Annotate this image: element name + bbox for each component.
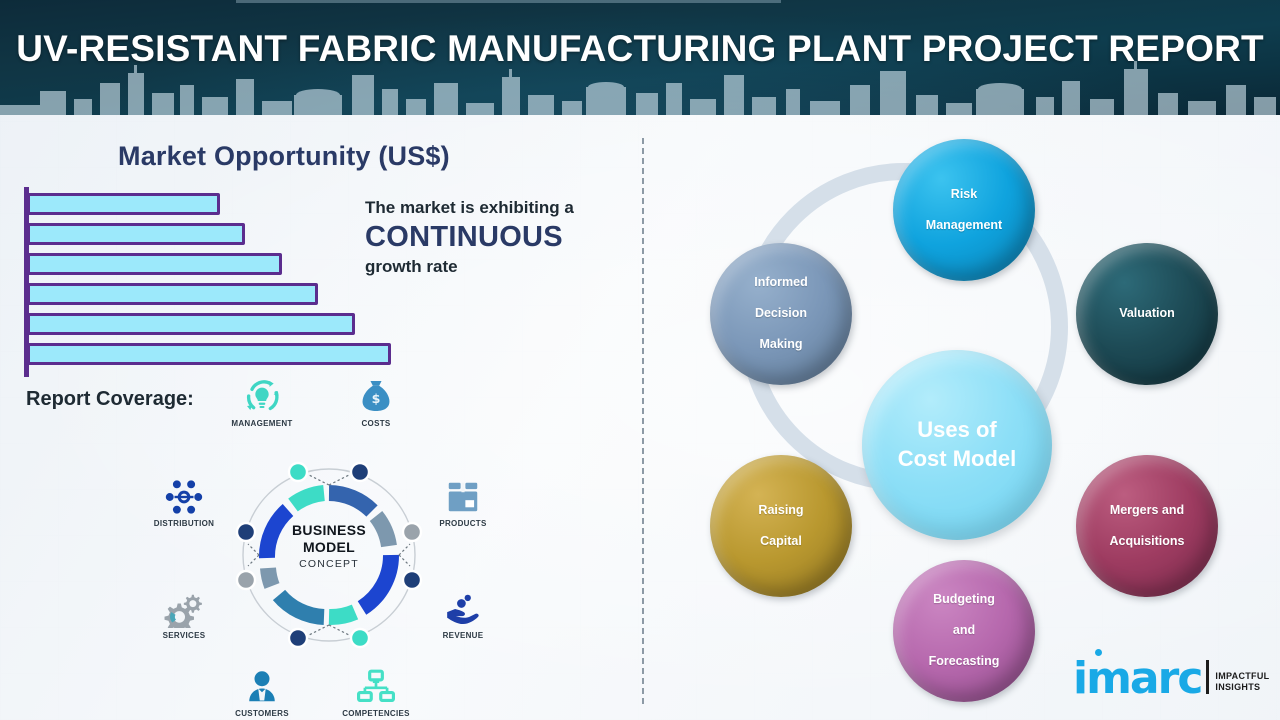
- node-raising-capital-line1: Raising: [752, 503, 809, 519]
- money-bag-icon: $: [328, 370, 424, 416]
- market-text-line1: The market is exhibiting a: [365, 197, 640, 218]
- business-model-center-text: BUSINESS MODEL CONCEPT: [234, 522, 424, 570]
- header-top-notch: [236, 0, 781, 3]
- market-text-emphasis: CONTINUOUS: [365, 218, 640, 257]
- bar-2: [27, 223, 245, 245]
- page-title: UV-RESISTANT FABRIC MANUFACTURING PLANT …: [0, 28, 1280, 70]
- node-risk-management[interactable]: Risk Management: [893, 139, 1035, 281]
- imarc-tagline-line2: INSIGHTS: [1215, 682, 1269, 693]
- left-panel: Market Opportunity (US$) The market is e…: [0, 115, 642, 720]
- node-budgeting-line3: Forecasting: [923, 654, 1006, 670]
- imarc-logo-tagline: IMPACTFUL INSIGHTS: [1215, 671, 1269, 694]
- node-budgeting-and-forecasting[interactable]: Budgeting and Forecasting: [893, 560, 1035, 702]
- business-model-line1: BUSINESS: [234, 522, 424, 539]
- imarc-tagline-line1: IMPACTFUL: [1215, 671, 1269, 682]
- business-model-line3: CONCEPT: [234, 558, 424, 570]
- business-model-diagram: MANAGEMENT $ COSTS: [130, 370, 530, 715]
- node-budgeting-line1: Budgeting: [923, 592, 1006, 608]
- panel-divider: [642, 138, 644, 704]
- network-nodes-icon: [136, 470, 232, 516]
- market-growth-text: The market is exhibiting a CONTINUOUS gr…: [365, 197, 640, 278]
- coverage-label-services: SERVICES: [136, 631, 232, 640]
- market-text-line3: growth rate: [365, 257, 640, 277]
- node-valuation-label: Valuation: [1113, 306, 1181, 322]
- hand-coins-icon: [415, 582, 511, 628]
- bar-3: [27, 253, 282, 275]
- node-raising-capital-line2: Capital: [752, 534, 809, 550]
- node-mergers-line2: Acquisitions: [1103, 534, 1190, 550]
- node-informed-line1: Informed: [748, 275, 813, 291]
- coverage-item-revenue: REVENUE: [415, 582, 511, 640]
- bar-1: [27, 193, 220, 215]
- recycle-lightbulb-icon: [214, 370, 310, 416]
- org-chart-icon: [328, 660, 424, 706]
- business-model-line2: MODEL: [234, 539, 424, 556]
- coverage-label-competencies: COMPETENCIES: [328, 709, 424, 718]
- coverage-item-costs: $ COSTS: [328, 370, 424, 428]
- imarc-logo-divider: [1206, 660, 1209, 694]
- coverage-item-products: PRODUCTS: [415, 470, 511, 528]
- right-panel: Risk Management Valuation Mergers and Ac…: [642, 115, 1280, 720]
- coverage-label-products: PRODUCTS: [415, 519, 511, 528]
- coverage-label-revenue: REVENUE: [415, 631, 511, 640]
- svg-text:$: $: [372, 391, 381, 406]
- coverage-item-services: SERVICES: [136, 582, 232, 640]
- package-box-icon: [415, 470, 511, 516]
- node-budgeting-line2: and: [923, 623, 1006, 639]
- coverage-item-customers: CUSTOMERS: [214, 660, 310, 718]
- market-opportunity-bar-chart: [24, 187, 424, 377]
- node-risk-management-line2: Management: [920, 218, 1008, 234]
- cost-model-line1: Uses of: [917, 417, 996, 442]
- node-uses-of-cost-model[interactable]: Uses of Cost Model: [862, 350, 1052, 540]
- market-opportunity-title: Market Opportunity (US$): [118, 141, 450, 172]
- node-informed-decision-making[interactable]: Informed Decision Making: [710, 243, 852, 385]
- coverage-item-management: MANAGEMENT: [214, 370, 310, 428]
- bar-5: [27, 313, 355, 335]
- coverage-label-customers: CUSTOMERS: [214, 709, 310, 718]
- gears-icon: [136, 582, 232, 628]
- node-informed-line2: Decision: [748, 306, 813, 322]
- node-mergers-line1: Mergers and: [1103, 503, 1190, 519]
- bar-4: [27, 283, 318, 305]
- imarc-logo: imarc IMPACTFUL INSIGHTS: [1073, 660, 1269, 696]
- node-informed-line3: Making: [748, 337, 813, 353]
- coverage-label-costs: COSTS: [328, 419, 424, 428]
- node-raising-capital[interactable]: Raising Capital: [710, 455, 852, 597]
- page-header: UV-RESISTANT FABRIC MANUFACTURING PLANT …: [0, 0, 1280, 115]
- business-model-donut: BUSINESS MODEL CONCEPT: [234, 460, 424, 650]
- imarc-logo-dot: [1095, 649, 1102, 656]
- node-valuation[interactable]: Valuation: [1076, 243, 1218, 385]
- coverage-item-competencies: COMPETENCIES: [328, 660, 424, 718]
- bar-6: [27, 343, 391, 365]
- cost-model-line2: Cost Model: [898, 446, 1017, 471]
- coverage-label-distribution: DISTRIBUTION: [136, 519, 232, 528]
- person-user-icon: [214, 660, 310, 706]
- coverage-item-distribution: DISTRIBUTION: [136, 470, 232, 528]
- coverage-label-management: MANAGEMENT: [214, 419, 310, 428]
- node-risk-management-line1: Risk: [920, 187, 1008, 203]
- node-mergers-and-acquisitions[interactable]: Mergers and Acquisitions: [1076, 455, 1218, 597]
- imarc-logo-word: imarc: [1073, 661, 1201, 696]
